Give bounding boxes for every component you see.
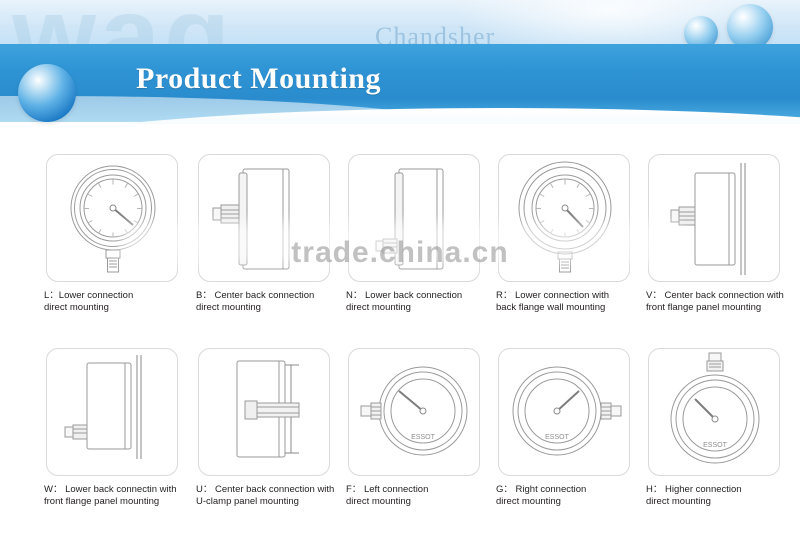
mounting-card-B[interactable]: B： Center back connection direct mountin… (190, 154, 338, 313)
page-header: waq Chandsher Product Mounting (0, 0, 800, 150)
card-frame-N (348, 154, 480, 282)
gauge-front-right-connection-icon: ESSOT (499, 349, 630, 476)
header-lower-white (0, 124, 800, 150)
caption-B: B： Center back connection direct mountin… (190, 290, 338, 313)
caption-G: G： Right connection direct mounting (490, 484, 638, 507)
card-frame-L (46, 154, 178, 282)
mounting-card-H[interactable]: ESSOT H： Higher connection direct mounti… (640, 348, 788, 507)
gauge-front-higher-connection-icon: ESSOT (649, 349, 780, 476)
page-title: Product Mounting (136, 62, 381, 96)
gauge-brand-label-G: ESSOT (545, 434, 569, 441)
gauge-side-center-back-icon (199, 155, 330, 282)
caption-R: R： Lower connection with back flange wal… (490, 290, 638, 313)
mounting-card-N[interactable]: N： Lower back connection direct mounting (340, 154, 488, 313)
gauge-brand-label-F: ESSOT (411, 434, 435, 441)
mounting-card-F[interactable]: ESSOT F： Left connection direct mounting (340, 348, 488, 507)
caption-L: L：Lower connection direct mounting (38, 290, 186, 313)
gauge-front-lower-connection-icon (47, 155, 178, 282)
decorative-sphere-main (18, 64, 76, 122)
gauge-brand-label-H: ESSOT (703, 442, 727, 449)
caption-N: N： Lower back connection direct mounting (340, 290, 488, 313)
grid-row-1: L：Lower connection direct mounting (0, 150, 800, 340)
caption-F: F： Left connection direct mounting (340, 484, 488, 507)
mounting-card-L[interactable]: L：Lower connection direct mounting (38, 154, 186, 313)
card-frame-G: ESSOT (498, 348, 630, 476)
mounting-card-G[interactable]: ESSOT G： Right connection direct mountin… (490, 348, 638, 507)
gauge-front-back-flange-icon (499, 155, 630, 282)
product-mounting-page: waq Chandsher Product Mounting (0, 0, 800, 541)
card-frame-W (46, 348, 178, 476)
gauge-side-u-clamp-icon (199, 349, 330, 476)
card-frame-V (648, 154, 780, 282)
caption-H: H： Higher connection direct mounting (640, 484, 788, 507)
mounting-card-V[interactable]: V： Center back connection with front fla… (640, 154, 788, 313)
card-frame-H: ESSOT (648, 348, 780, 476)
card-frame-F: ESSOT (348, 348, 480, 476)
mounting-card-U[interactable]: U： Center back connection with U-clamp p… (190, 348, 338, 507)
gauge-side-lower-back-flange-icon (47, 349, 178, 476)
mounting-card-W[interactable]: W： Lower back connectin with front flang… (38, 348, 186, 507)
mounting-options-grid: L：Lower connection direct mounting (0, 150, 800, 530)
mounting-card-R[interactable]: R： Lower connection with back flange wal… (490, 154, 638, 313)
grid-row-2: W： Lower back connectin with front flang… (0, 340, 800, 530)
card-frame-U (198, 348, 330, 476)
gauge-side-front-flange-icon (649, 155, 780, 282)
card-frame-B (198, 154, 330, 282)
gauge-side-lower-back-icon (349, 155, 480, 282)
caption-U: U： Center back connection with U-clamp p… (190, 484, 338, 507)
gauge-front-left-connection-icon: ESSOT (349, 349, 480, 476)
caption-V: V： Center back connection with front fla… (640, 290, 788, 313)
caption-W: W： Lower back connectin with front flang… (38, 484, 186, 507)
card-frame-R (498, 154, 630, 282)
